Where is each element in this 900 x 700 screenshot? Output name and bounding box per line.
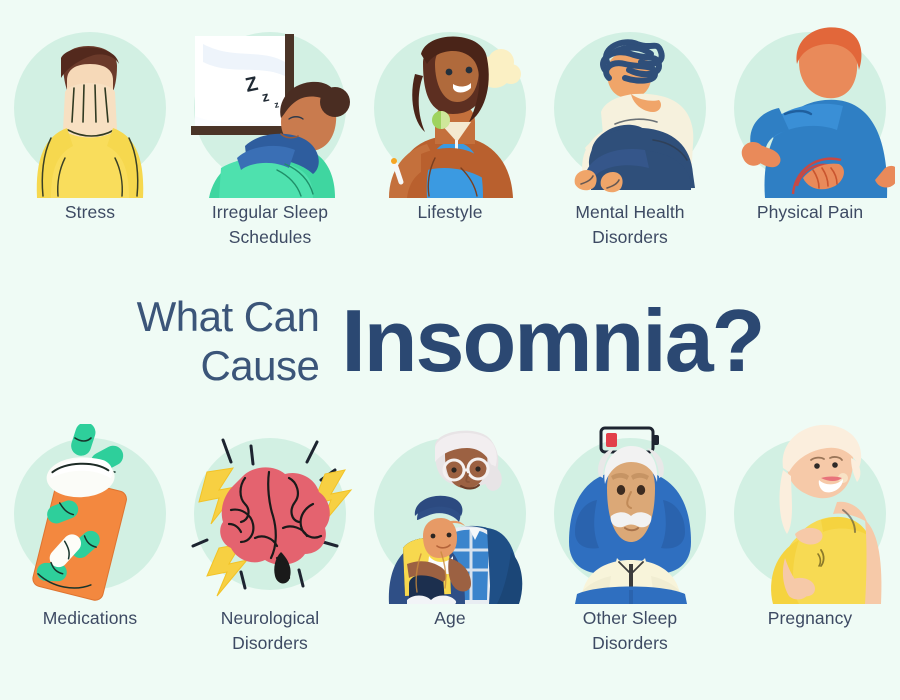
- label-line-2: Disorders: [542, 631, 718, 656]
- stress-illustration: [5, 18, 175, 198]
- label-line-1: Age: [434, 608, 465, 628]
- pill-bottle-icon: [5, 424, 175, 604]
- label-line-1: Pregnancy: [768, 608, 853, 628]
- cause-label: Lifestyle: [362, 200, 538, 225]
- cause-item-lifestyle[interactable]: Lifestyle: [360, 18, 540, 250]
- cause-label: Medications: [2, 606, 178, 631]
- label-line-1: Physical Pain: [757, 202, 863, 222]
- label-line-1: Neurological: [221, 608, 319, 628]
- cause-item-pregnancy[interactable]: Pregnancy: [720, 424, 900, 656]
- top-icon-row: Stress: [0, 18, 900, 250]
- cause-item-medications[interactable]: Medications: [0, 424, 180, 656]
- age-illustration: [365, 424, 535, 604]
- headline-prefix-line2: Cause: [137, 341, 320, 390]
- man-back-pain-icon: [725, 18, 895, 198]
- label-line-1: Irregular Sleep: [212, 202, 328, 222]
- cause-label: Pregnancy: [722, 606, 898, 631]
- label-line-1: Mental Health: [575, 202, 684, 222]
- mental-health-illustration: [545, 18, 715, 198]
- elderly-woman-with-child-icon: [365, 424, 535, 604]
- cause-item-mental-health[interactable]: Mental Health Disorders: [540, 18, 720, 250]
- cause-label: Physical Pain: [722, 200, 898, 225]
- headline-main: Insomnia?: [341, 295, 763, 387]
- label-line-2: Disorders: [182, 631, 358, 656]
- cause-item-neurological[interactable]: Neurological Disorders: [180, 424, 360, 656]
- headline-prefix: What Can Cause: [137, 292, 342, 390]
- headline-prefix-line1: What Can: [137, 292, 320, 341]
- cause-label: Other Sleep Disorders: [542, 606, 718, 656]
- person-covering-face-icon: [5, 18, 175, 198]
- label-line-2: Schedules: [182, 225, 358, 250]
- label-line-2: Disorders: [542, 225, 718, 250]
- person-sleeping-by-window-icon: Z z z: [185, 18, 355, 198]
- lifestyle-illustration: [365, 18, 535, 198]
- cause-label: Mental Health Disorders: [542, 200, 718, 250]
- cause-label: Irregular Sleep Schedules: [182, 200, 358, 250]
- pregnant-woman-icon: [725, 424, 895, 604]
- cause-item-other-sleep-disorders[interactable]: Other Sleep Disorders: [540, 424, 720, 656]
- elderly-man-awake-low-battery-icon: [545, 424, 715, 604]
- pregnancy-illustration: [725, 424, 895, 604]
- cause-item-stress[interactable]: Stress: [0, 18, 180, 250]
- label-line-1: Other Sleep: [583, 608, 678, 628]
- person-curled-up-scribble-hair-icon: [545, 18, 715, 198]
- label-line-1: Medications: [43, 608, 137, 628]
- brain-lightning-icon: [185, 424, 355, 604]
- woman-cocktail-cigarette-icon: [365, 18, 535, 198]
- infographic-page: Stress: [0, 0, 900, 700]
- cause-item-physical-pain[interactable]: Physical Pain: [720, 18, 900, 250]
- cause-item-irregular-sleep[interactable]: Z z z I: [180, 18, 360, 250]
- irregular-sleep-illustration: Z z z: [185, 18, 355, 198]
- physical-pain-illustration: [725, 18, 895, 198]
- medications-illustration: [5, 424, 175, 604]
- cause-label: Age: [362, 606, 538, 631]
- headline-block: What Can Cause Insomnia?: [0, 276, 900, 406]
- label-line-1: Lifestyle: [417, 202, 482, 222]
- cause-label: Neurological Disorders: [182, 606, 358, 656]
- other-sleep-disorders-illustration: [545, 424, 715, 604]
- cause-label: Stress: [2, 200, 178, 225]
- label-line-1: Stress: [65, 202, 115, 222]
- cause-item-age[interactable]: Age: [360, 424, 540, 656]
- neurological-illustration: [185, 424, 355, 604]
- bottom-icon-row: Medications: [0, 424, 900, 656]
